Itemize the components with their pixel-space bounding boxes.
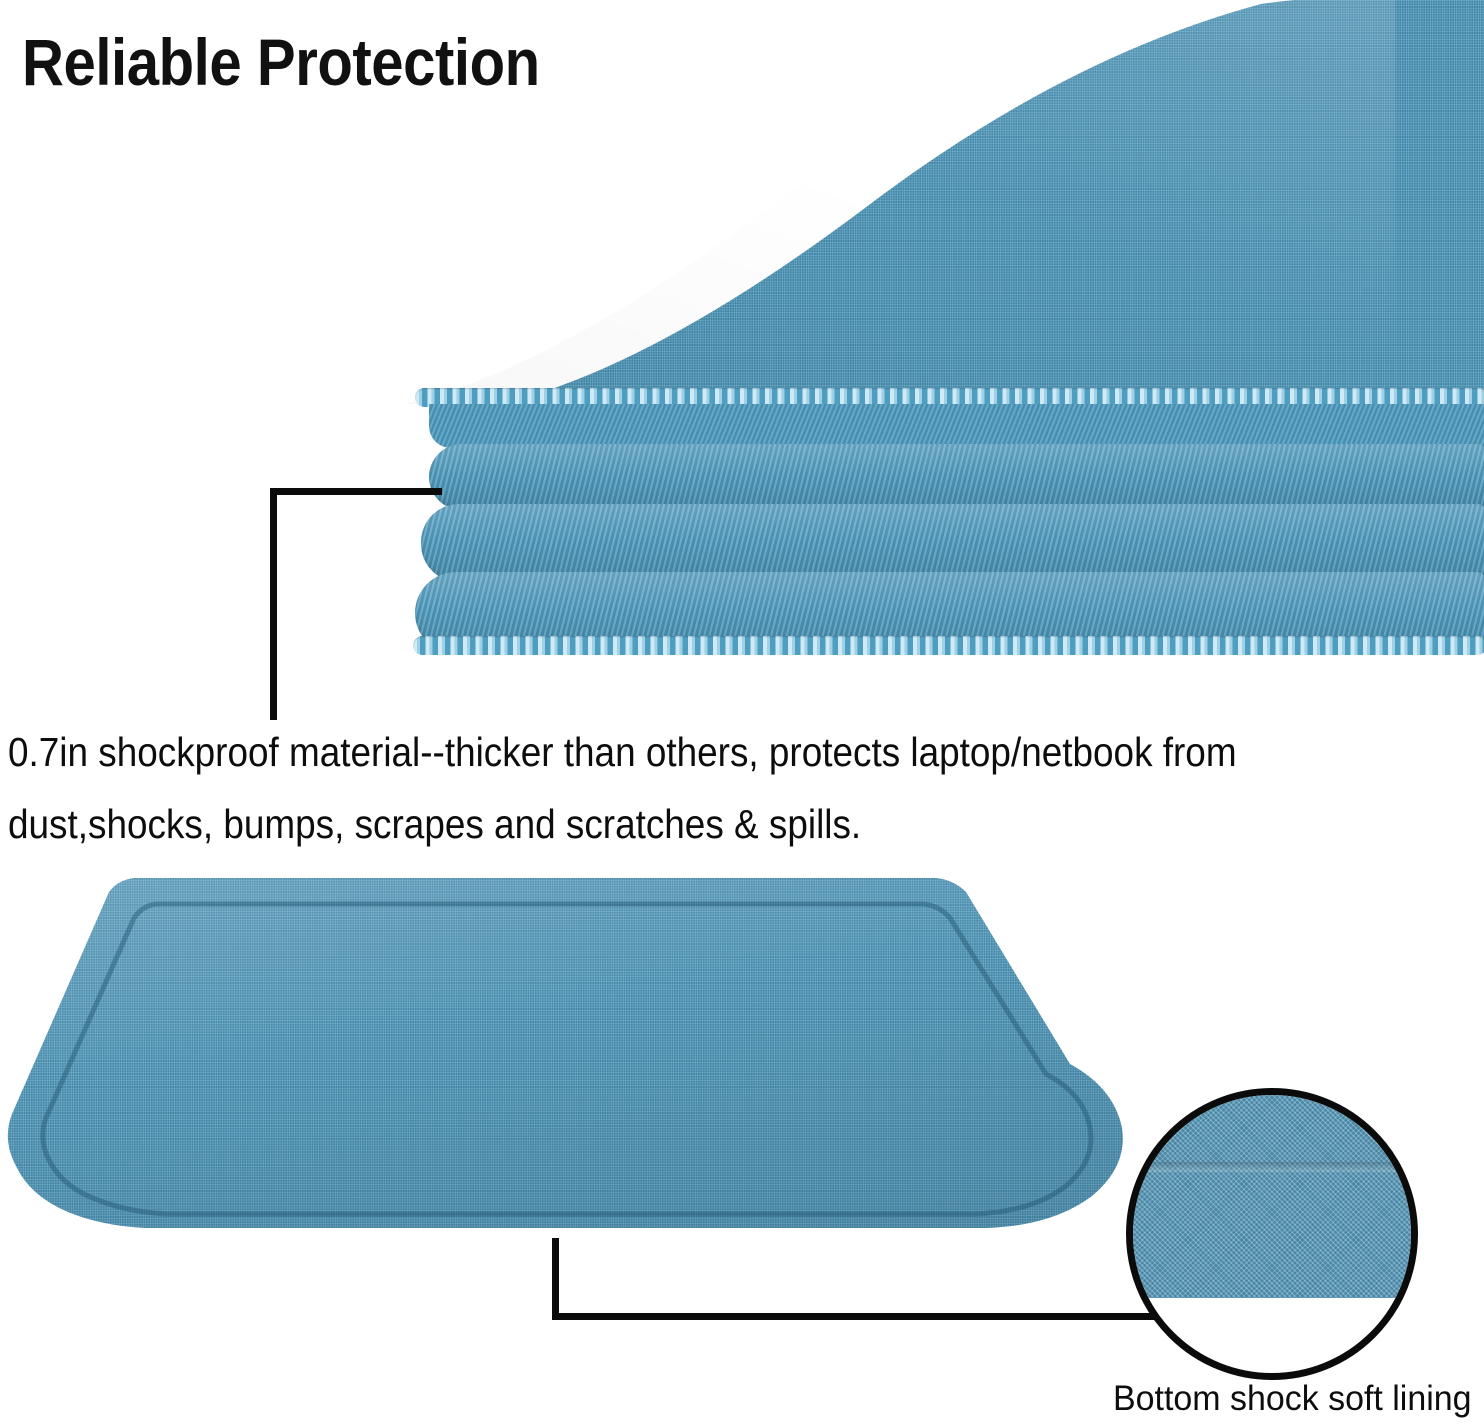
detail-caption: Bottom shock soft lining bbox=[1113, 1378, 1472, 1420]
bottom-panel-illustration bbox=[6, 878, 1136, 1250]
description-text: 0.7in shockproof material--thicker than … bbox=[8, 716, 1331, 860]
zipper-teeth-lower bbox=[413, 636, 1484, 655]
detail-magnifier-circle bbox=[1126, 1088, 1418, 1380]
detail-knit-texture bbox=[1133, 1095, 1411, 1298]
description-line-1: 0.7in shockproof material--thicker than … bbox=[8, 716, 1331, 788]
zipper-tape-upper bbox=[429, 404, 1484, 448]
callout-leader-line-bottom bbox=[552, 1238, 1160, 1320]
padded-band-two-gloss bbox=[421, 504, 1484, 582]
detail-seam-line bbox=[1133, 1162, 1411, 1172]
upper-sleeve-illustration bbox=[405, 0, 1484, 686]
bottom-panel-stitch-line bbox=[6, 878, 1136, 1250]
padded-band-one bbox=[429, 444, 1484, 510]
page-title: Reliable Protection bbox=[22, 26, 540, 98]
description-line-2: dust,shocks, bumps, scrapes and scratche… bbox=[8, 788, 1331, 860]
callout-leader-line-top bbox=[270, 488, 442, 720]
padded-band-one-gloss bbox=[429, 444, 1484, 510]
infographic-page: Reliable Protection 0.7in shockproof mat… bbox=[0, 0, 1484, 1425]
padded-band-two bbox=[421, 504, 1484, 582]
